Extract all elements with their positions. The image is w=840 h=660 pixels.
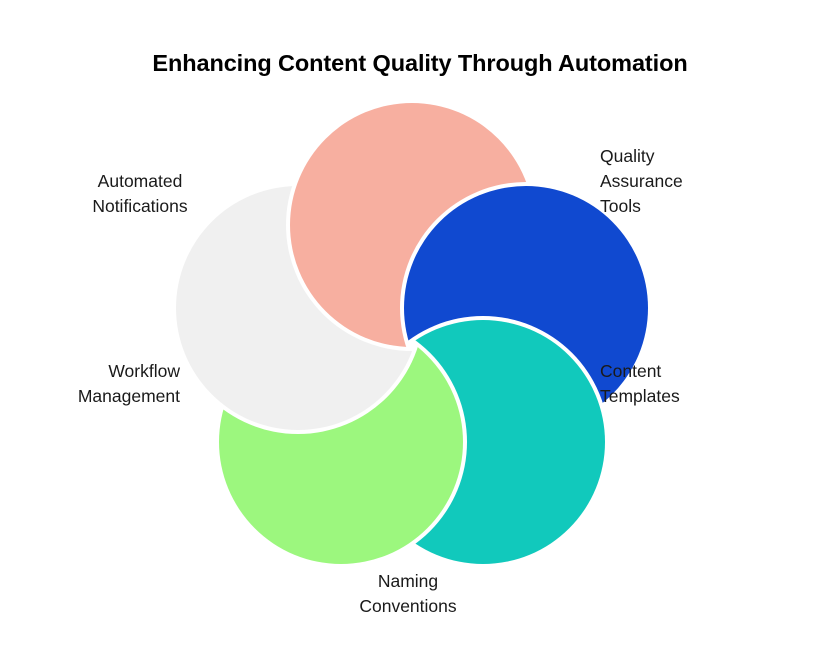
label-automated-notifications: Automated Notifications xyxy=(50,169,230,219)
segment-naming-conventions[interactable] xyxy=(0,0,840,660)
diagram-canvas: Enhancing Content Quality Through Automa… xyxy=(0,0,840,660)
label-quality-assurance-tools: Quality Assurance Tools xyxy=(600,144,760,219)
label-naming-conventions: Naming Conventions xyxy=(308,569,508,619)
pinwheel-diagram xyxy=(0,0,840,660)
label-content-templates: Content Templates xyxy=(600,359,780,409)
label-workflow-management: Workflow Management xyxy=(20,359,180,409)
